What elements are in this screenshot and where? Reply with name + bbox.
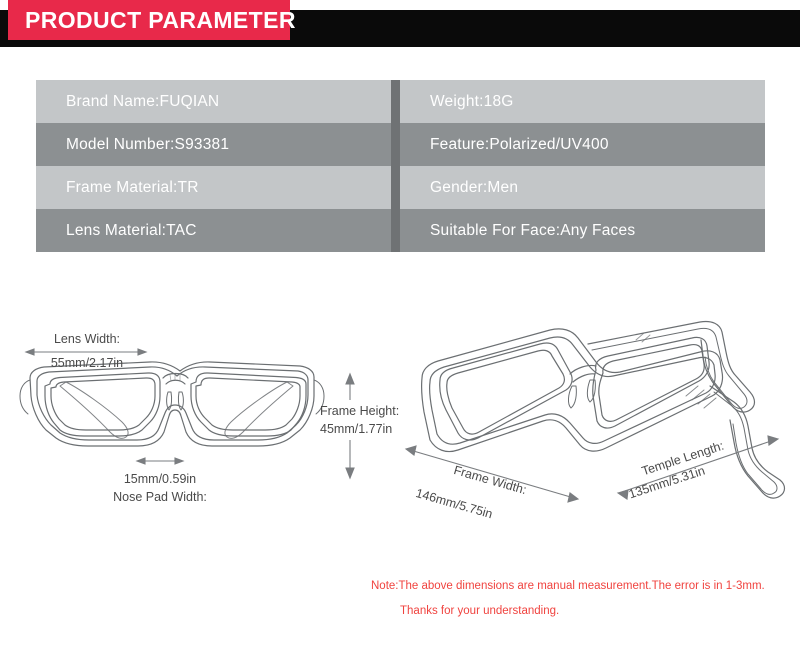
page-header: PRODUCT PARAMETER	[0, 0, 800, 50]
nose-pad-width-value: 15mm/0.59in	[100, 472, 220, 487]
spec-cell-lens-material: Lens Material:TAC	[36, 209, 391, 252]
spec-cell-feature: Feature:Polarized/UV400	[400, 123, 765, 166]
lens-width-arrow	[26, 349, 146, 355]
note-line-2: Thanks for your understanding.	[400, 605, 559, 617]
table-row: Lens Material:TAC Suitable For Face:Any …	[36, 209, 765, 252]
column-divider	[391, 209, 400, 252]
table-row: Model Number:S93381 Feature:Polarized/UV…	[36, 123, 765, 166]
lens-width-label: Lens Width:	[32, 332, 142, 347]
spec-cell-weight: Weight:18G	[400, 80, 765, 123]
table-row: Brand Name:FUQIAN Weight:18G	[36, 80, 765, 123]
column-divider	[391, 123, 400, 166]
eyeglasses-perspective-view-illustration	[400, 300, 800, 560]
lens-width-label-group: Lens Width:	[32, 332, 142, 347]
spec-cell-model-number: Model Number:S93381	[36, 123, 391, 166]
table-row: Frame Material:TR Gender:Men	[36, 166, 765, 209]
frame-height-label: Frame Height:	[320, 404, 399, 419]
dimension-diagrams: Lens Width: 55mm/2.17in Frame Height: 45…	[0, 300, 800, 560]
specification-table: Brand Name:FUQIAN Weight:18G Model Numbe…	[36, 80, 765, 252]
nose-pad-width-label: Nose Pad Width:	[100, 490, 220, 505]
frame-height-value: 45mm/1.77in	[320, 422, 392, 437]
column-divider	[391, 80, 400, 123]
product-parameter-page: PRODUCT PARAMETER Brand Name:FUQIAN Weig…	[0, 0, 800, 668]
spec-cell-frame-material: Frame Material:TR	[36, 166, 391, 209]
lens-width-value: 55mm/2.17in	[32, 356, 142, 371]
spec-cell-brand-name: Brand Name:FUQIAN	[36, 80, 391, 123]
spec-cell-suitable-for-face: Suitable For Face:Any Faces	[400, 209, 765, 252]
note-line-1: Note:The above dimensions are manual mea…	[371, 580, 765, 592]
column-divider	[391, 166, 400, 209]
spec-cell-gender: Gender:Men	[400, 166, 765, 209]
nose-pad-width-arrow	[137, 458, 183, 464]
page-title: PRODUCT PARAMETER	[8, 7, 296, 34]
header-red-banner: PRODUCT PARAMETER	[8, 0, 290, 40]
